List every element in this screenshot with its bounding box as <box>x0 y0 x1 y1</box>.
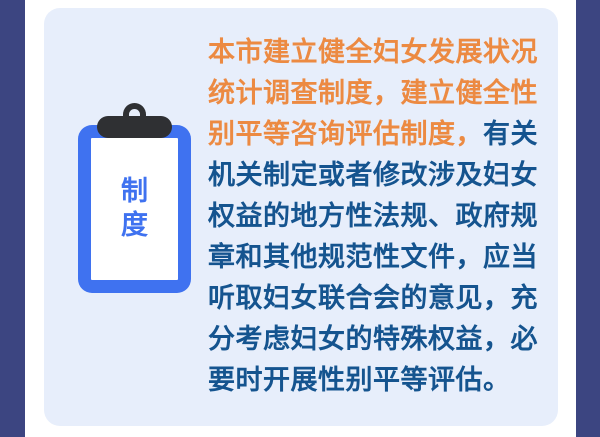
paragraph-line-2: 统计调查制度，建立健全性 <box>208 73 548 114</box>
paragraph-line-6: 章和其他规范性文件，应当 <box>208 237 548 278</box>
content-card: 制 度 本市建立健全妇女发展状况 统计调查制度，建立健全性 别平等咨询评估制度，… <box>44 8 558 426</box>
paragraph-line-5: 权益的地方性法规、政府规 <box>208 196 548 237</box>
clipboard-label: 制 <box>121 175 148 209</box>
paragraph-line-3-highlight: 别平等咨询评估制度， <box>208 119 483 150</box>
poster-root: 制 度 本市建立健全妇女发展状况 统计调查制度，建立健全性 别平等咨询评估制度，… <box>0 0 600 437</box>
paragraph-line-3: 别平等咨询评估制度，有关 <box>208 114 548 155</box>
clipboard-label-second: 度 <box>121 209 148 243</box>
clipboard-body: 制 度 <box>78 125 191 293</box>
paragraph-line-1: 本市建立健全妇女发展状况 <box>208 32 548 73</box>
paragraph-line-3-body: 有关 <box>483 119 538 150</box>
paragraph-line-9: 要时开展性别平等评估。 <box>208 360 548 401</box>
clipboard-page: 制 度 <box>91 138 178 280</box>
paragraph-line-4: 机关制定或者修改涉及妇女 <box>208 155 548 196</box>
paragraph-line-7: 听取妇女联合会的意见，充 <box>208 278 548 319</box>
paragraph-block: 本市建立健全妇女发展状况 统计调查制度，建立健全性 别平等咨询评估制度，有关 机… <box>208 32 548 401</box>
right-rail <box>576 0 600 437</box>
clipboard-clip-icon <box>97 116 172 138</box>
paragraph-line-8: 分考虑妇女的特殊权益，必 <box>208 319 548 360</box>
clipboard-icon: 制 度 <box>78 103 198 293</box>
left-rail <box>0 0 25 437</box>
